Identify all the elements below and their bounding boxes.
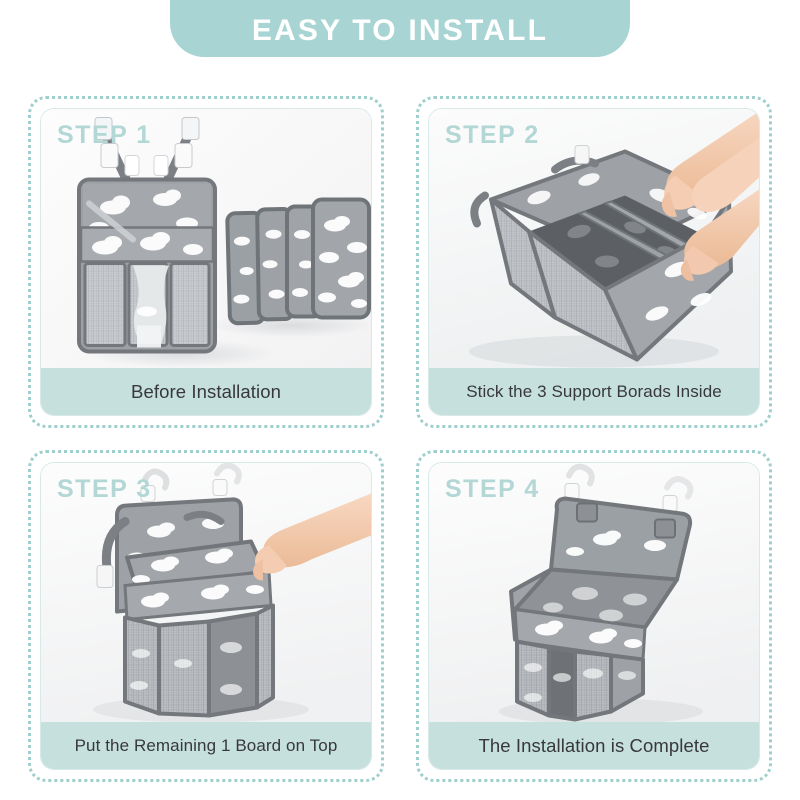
- page-title: EASY TO INSTALL: [252, 16, 548, 46]
- step-label-2: STEP 2: [445, 121, 540, 150]
- step-photo-3: STEP 3: [41, 463, 371, 722]
- step-label-4: STEP 4: [445, 475, 540, 504]
- step-caption-bar-1: Before Installation: [41, 368, 371, 415]
- steps-grid: STEP 1: [28, 96, 772, 782]
- step-panel-4: STEP 4: [416, 450, 772, 782]
- step-photo-4: STEP 4: [429, 463, 759, 722]
- step-label-1: STEP 1: [57, 121, 152, 150]
- step-card-1: STEP 1: [40, 108, 372, 416]
- step-photo-1: STEP 1: [41, 109, 371, 368]
- step-photo-2: STEP 2: [429, 109, 759, 368]
- step-caption-bar-2: Stick the 3 Support Borads Inside: [429, 368, 759, 415]
- step-caption-bar-3: Put the Remaining 1 Board on Top: [41, 722, 371, 769]
- step-panel-3: STEP 3: [28, 450, 384, 782]
- step-panel-1: STEP 1: [28, 96, 384, 428]
- infographic-page: EASY TO INSTALL STEP 1: [0, 0, 800, 800]
- step-caption-text-4: The Installation is Complete: [478, 735, 709, 757]
- step-panel-2: STEP 2: [416, 96, 772, 428]
- step-card-2: STEP 2: [428, 108, 760, 416]
- step-card-4: STEP 4: [428, 462, 760, 770]
- step-label-3: STEP 3: [57, 475, 152, 504]
- header-banner: EASY TO INSTALL: [170, 0, 630, 57]
- step-card-3: STEP 3: [40, 462, 372, 770]
- step-caption-text-1: Before Installation: [131, 381, 281, 403]
- step-caption-text-3: Put the Remaining 1 Board on Top: [75, 736, 338, 756]
- step-caption-text-2: Stick the 3 Support Borads Inside: [466, 382, 722, 402]
- step-caption-bar-4: The Installation is Complete: [429, 722, 759, 769]
